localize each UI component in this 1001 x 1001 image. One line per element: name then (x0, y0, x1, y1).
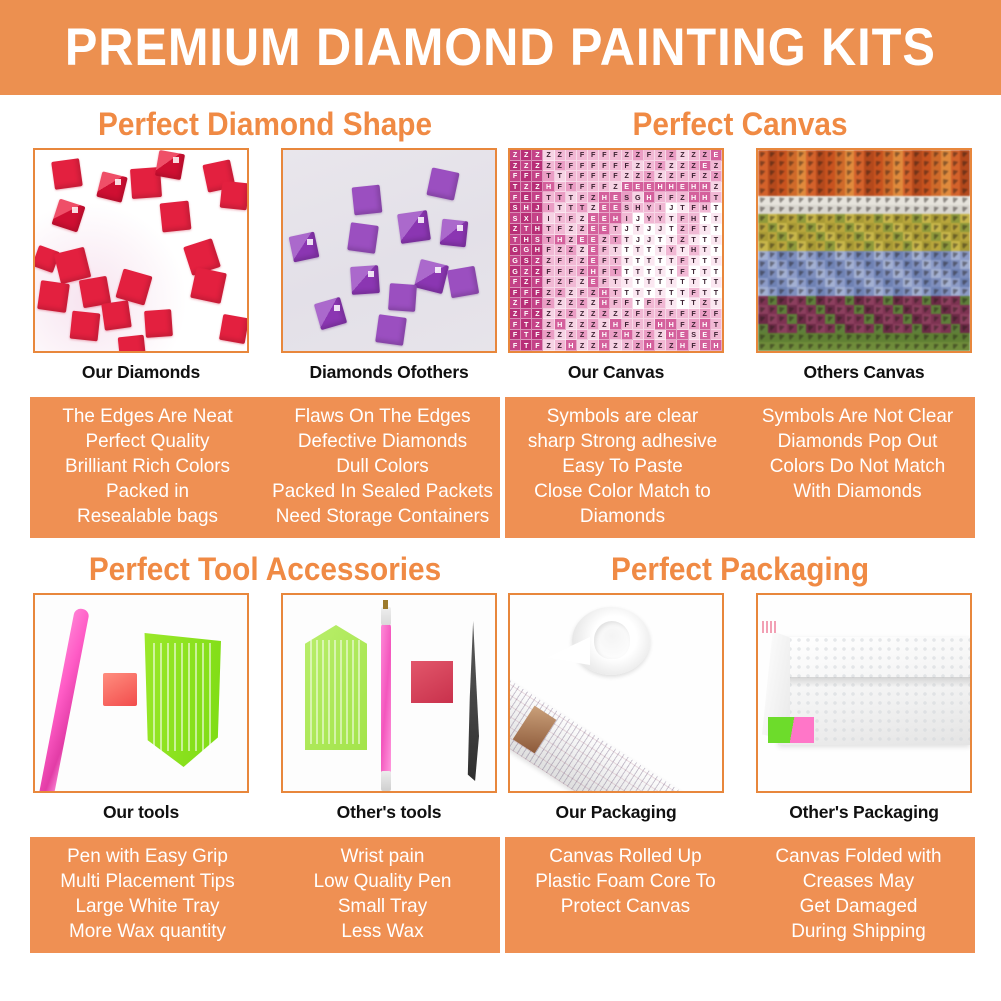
canvas-symbol-cell: Z (555, 330, 566, 341)
mailer-fold-line (778, 677, 970, 687)
canvas-symbol-cell: F (566, 213, 577, 224)
canvas-symbol-cell (806, 287, 816, 296)
canvas-symbol-cell (845, 159, 855, 168)
canvas-symbol-cell (854, 223, 864, 232)
canvas-symbol-cell (787, 159, 797, 168)
diamond-tile (219, 314, 249, 344)
canvas-symbol-cell (768, 278, 778, 287)
canvas-symbol-cell (912, 232, 922, 241)
canvas-symbol-cell (941, 168, 951, 177)
canvas-symbol-cell: T (633, 288, 644, 299)
canvas-symbol-cell: E (711, 150, 722, 161)
wax-square-icon (103, 673, 137, 706)
canvas-symbol-cell: Z (588, 203, 599, 214)
canvas-symbol-cell: F (622, 319, 633, 330)
canvas-symbol-cell: F (521, 288, 532, 299)
canvas-symbol-cell: T (610, 256, 621, 267)
canvas-symbol-cell: Z (543, 340, 554, 351)
canvas-symbol-cell: T (555, 213, 566, 224)
canvas-symbol-cell: T (633, 277, 644, 288)
canvas-symbol-cell (758, 232, 768, 241)
canvas-symbol-cell (854, 305, 864, 314)
canvas-symbol-cell (893, 177, 903, 186)
canvas-symbol-cell (922, 251, 932, 260)
canvas-symbol-cell (835, 333, 845, 342)
canvas-symbol-cell: Z (577, 266, 588, 277)
canvas-symbol-cell: Z (622, 171, 633, 182)
red-diamonds-photo (33, 148, 249, 353)
canvas-symbol-cell (893, 260, 903, 269)
blurry-color-canvas-photo (756, 148, 972, 353)
canvas-symbol-cell: I (543, 213, 554, 224)
canvas-symbol-cell: Y (644, 213, 655, 224)
canvas-symbol-cell: T (577, 203, 588, 214)
canvas-symbol-cell (893, 342, 903, 351)
canvas-symbol-cell (874, 251, 884, 260)
canvas-symbol-cell: T (700, 256, 711, 267)
canvas-symbol-cell: Z (510, 224, 521, 235)
canvas-symbol-cell (864, 324, 874, 333)
canvas-symbol-cell (845, 241, 855, 250)
canvas-symbol-cell (874, 333, 884, 342)
canvas-symbol-cell (816, 314, 826, 323)
canvas-symbol-cell: F (588, 150, 599, 161)
canvas-symbol-cell: T (633, 245, 644, 256)
canvas-symbol-cell (758, 196, 768, 205)
canvas-symbol-cell: Z (655, 330, 666, 341)
canvas-symbol-cell: S (532, 235, 543, 246)
canvas-symbol-cell (874, 305, 884, 314)
canvas-symbol-cell: T (711, 288, 722, 299)
canvas-symbol-cell (768, 205, 778, 214)
canvas-symbol-cell (903, 150, 913, 159)
canvas-symbol-cell (951, 278, 961, 287)
section-title: Perfect Tool Accessories (46, 551, 483, 587)
canvas-symbol-cell (951, 177, 961, 186)
info-column-ours: Canvas Rolled Up Plastic Foam Core To Pr… (509, 844, 739, 944)
canvas-symbol-cell (787, 278, 797, 287)
canvas-symbol-cell (845, 223, 855, 232)
canvas-symbol-cell: F (689, 203, 700, 214)
canvas-symbol-cell (797, 223, 807, 232)
canvas-symbol-cell: Z (655, 309, 666, 320)
canvas-symbol-cell (845, 150, 855, 159)
canvas-symbol-cell (922, 342, 932, 351)
canvas-symbol-cell (787, 342, 797, 351)
canvas-symbol-cell (883, 324, 893, 333)
canvas-symbol-cell: T (677, 203, 688, 214)
diamond-tile (144, 309, 173, 338)
canvas-symbol-cell (893, 214, 903, 223)
canvas-symbol-cell (903, 214, 913, 223)
canvas-symbol-cell (787, 150, 797, 159)
canvas-symbol-cell: Z (566, 288, 577, 299)
canvas-symbol-cell: Z (555, 298, 566, 309)
canvas-symbol-cell: T (644, 277, 655, 288)
canvas-symbol-cell: H (566, 340, 577, 351)
canvas-symbol-cell: H (677, 340, 688, 351)
canvas-symbol-cell: F (532, 192, 543, 203)
canvas-symbol-cell: F (644, 309, 655, 320)
canvas-symbol-cell (777, 205, 787, 214)
canvas-symbol-cell (931, 159, 941, 168)
canvas-symbol-cell (758, 333, 768, 342)
info-line: Resealable bags (34, 504, 262, 529)
section-diamond-shape: Perfect Diamond Shape Our Diamonds Diamo… (30, 100, 500, 535)
info-line: Multi Placement Tips (34, 869, 262, 894)
canvas-symbol-cell: T (644, 266, 655, 277)
canvas-symbol-cell (835, 214, 845, 223)
canvas-symbol-cell (912, 287, 922, 296)
canvas-symbol-cell (777, 296, 787, 305)
canvas-symbol-cell: T (610, 245, 621, 256)
canvas-symbol-cell: Z (532, 256, 543, 267)
canvas-symbol-cell: Z (610, 340, 621, 351)
canvas-symbol-cell: E (588, 256, 599, 267)
canvas-symbol-cell: T (610, 235, 621, 246)
canvas-symbol-cell: E (588, 277, 599, 288)
canvas-symbol-cell: T (700, 235, 711, 246)
canvas-symbol-cell: F (510, 277, 521, 288)
canvas-symbol-cell: E (633, 182, 644, 193)
canvas-symbol-cell: Z (555, 150, 566, 161)
canvas-symbol-cell (874, 241, 884, 250)
info-line: Less Wax (269, 919, 497, 944)
canvas-symbol-cell: T (711, 319, 722, 330)
canvas-symbol-cell: Z (532, 319, 543, 330)
diamond-tile (426, 167, 459, 200)
canvas-symbol-cell (787, 168, 797, 177)
info-box: Canvas Rolled Up Plastic Foam Core To Pr… (505, 837, 975, 953)
canvas-symbol-cell: T (633, 256, 644, 267)
canvas-symbol-cell: Z (633, 340, 644, 351)
canvas-symbol-cell (960, 287, 970, 296)
canvas-symbol-cell: Z (655, 340, 666, 351)
canvas-symbol-cell (825, 333, 835, 342)
canvas-symbol-cell: T (510, 182, 521, 193)
canvas-symbol-cell: F (644, 298, 655, 309)
canvas-symbol-cell: F (677, 319, 688, 330)
canvas-symbol-cell: Z (677, 150, 688, 161)
canvas-symbol-cell (864, 177, 874, 186)
canvas-symbol-cell: T (666, 288, 677, 299)
photo-caption: Our Packaging (505, 802, 727, 823)
canvas-symbol-cell: F (677, 266, 688, 277)
canvas-symbol-cell (845, 187, 855, 196)
canvas-symbol-cell: T (689, 256, 700, 267)
canvas-symbol-cell (893, 324, 903, 333)
canvas-symbol-cell (893, 314, 903, 323)
info-column-others: Canvas Folded with Creases May Get Damag… (745, 844, 971, 944)
canvas-symbol-cell: Z (588, 288, 599, 299)
canvas-symbol-cell (874, 205, 884, 214)
info-column-others: Symbols Are Not Clear Diamonds Pop Out C… (744, 404, 972, 529)
mailer-seal-strip-icon (762, 621, 776, 633)
canvas-symbol-cell (758, 324, 768, 333)
tray-ribs-icon (153, 643, 211, 751)
info-line: Small Tray (269, 894, 497, 919)
canvas-symbol-cell (960, 177, 970, 186)
canvas-symbol-cell (931, 287, 941, 296)
canvas-symbol-cell: S (521, 256, 532, 267)
canvas-symbol-cell: H (521, 235, 532, 246)
canvas-symbol-cell: H (700, 203, 711, 214)
canvas-symbol-cell: F (577, 171, 588, 182)
canvas-symbol-cell (854, 241, 864, 250)
canvas-symbol-cell: J (644, 235, 655, 246)
canvas-symbol-cell: Z (566, 245, 577, 256)
wax-square-icon (411, 661, 453, 703)
canvas-symbol-cell (758, 187, 768, 196)
pen-end-cap-icon (381, 771, 391, 791)
section-packaging: Perfect Packaging Our Packaging (505, 545, 975, 975)
canvas-symbol-cell: Z (633, 330, 644, 341)
canvas-symbol-cell: T (510, 235, 521, 246)
pen-tip-icon (381, 607, 391, 625)
canvas-symbol-cell (941, 214, 951, 223)
canvas-symbol-cell: Z (622, 309, 633, 320)
canvas-symbol-cell (758, 223, 768, 232)
canvas-symbol-cell: Z (666, 340, 677, 351)
canvas-symbol-cell (922, 159, 932, 168)
sparkle-highlight (115, 179, 121, 185)
canvas-symbol-cell (816, 150, 826, 159)
canvas-symbol-cell (951, 296, 961, 305)
canvas-symbol-cell (797, 241, 807, 250)
canvas-symbol-cell: Z (677, 161, 688, 172)
canvas-symbol-cell: Z (555, 309, 566, 320)
canvas-symbol-cell (768, 168, 778, 177)
info-line: With Diamonds (744, 479, 972, 504)
canvas-symbol-cell (854, 296, 864, 305)
canvas-symbol-cell: T (677, 298, 688, 309)
canvas-symbol-cell (931, 342, 941, 351)
sparkle-highlight (334, 305, 340, 311)
canvas-symbol-cell (787, 177, 797, 186)
canvas-symbol-cell (931, 205, 941, 214)
canvas-symbol-cell: T (700, 213, 711, 224)
canvas-symbol-cell (787, 241, 797, 250)
canvas-symbol-cell (941, 287, 951, 296)
canvas-symbol-cell: H (689, 182, 700, 193)
canvas-symbol-cell (922, 205, 932, 214)
sparkle-highlight (173, 157, 179, 163)
canvas-symbol-cell (941, 296, 951, 305)
canvas-symbol-cell: Z (700, 298, 711, 309)
canvas-symbol-cell: Z (566, 330, 577, 341)
canvas-symbol-cell (845, 278, 855, 287)
canvas-symbol-cell: Z (577, 340, 588, 351)
canvas-symbol-cell: T (610, 224, 621, 235)
info-line: Defective Diamonds (269, 429, 497, 454)
info-line: Perfect Quality (34, 429, 262, 454)
canvas-symbol-cell (912, 168, 922, 177)
canvas-symbol-cell (854, 324, 864, 333)
canvas-symbol-cell: E (677, 330, 688, 341)
canvas-symbol-cell: H (532, 224, 543, 235)
canvas-symbol-cell (874, 232, 884, 241)
canvas-symbol-cell: E (700, 330, 711, 341)
canvas-symbol-cell: Z (532, 182, 543, 193)
canvas-symbol-cell: H (711, 340, 722, 351)
canvas-symbol-cell: F (610, 298, 621, 309)
canvas-symbol-cell (758, 314, 768, 323)
canvas-symbol-cell (768, 314, 778, 323)
canvas-symbol-cell (931, 269, 941, 278)
canvas-symbol-cell (864, 187, 874, 196)
canvas-symbol-cell (864, 278, 874, 287)
canvas-symbol-cell (864, 342, 874, 351)
canvas-symbol-cell (951, 214, 961, 223)
canvas-symbol-cell: T (700, 266, 711, 277)
canvas-symbol-cell (941, 333, 951, 342)
canvas-symbol-cell (777, 342, 787, 351)
canvas-symbol-cell (787, 251, 797, 260)
canvas-symbol-cell: T (555, 203, 566, 214)
canvas-symbol-cell (960, 269, 970, 278)
canvas-symbol-cell: T (633, 266, 644, 277)
canvas-symbol-cell (777, 269, 787, 278)
canvas-symbol-cell: F (543, 245, 554, 256)
canvas-symbol-cell (835, 296, 845, 305)
canvas-symbol-cell (883, 232, 893, 241)
canvas-symbol-cell (797, 251, 807, 260)
canvas-symbol-cell (777, 260, 787, 269)
canvas-symbol-cell: Z (521, 161, 532, 172)
canvas-symbol-cell (864, 159, 874, 168)
canvas-symbol-cell: H (599, 192, 610, 203)
canvas-symbol-cell (893, 168, 903, 177)
photo-caption: Diamonds Ofothers (278, 362, 500, 383)
diamond-tile (118, 335, 147, 353)
canvas-symbol-cell (787, 232, 797, 241)
info-line: Packed In Sealed Packets (269, 479, 497, 504)
canvas-symbol-cell (903, 223, 913, 232)
canvas-symbol-cell: F (577, 150, 588, 161)
canvas-symbol-cell: E (588, 245, 599, 256)
canvas-symbol-cell (835, 177, 845, 186)
canvas-symbol-cell (758, 214, 768, 223)
canvas-symbol-cell: Z (689, 161, 700, 172)
canvas-symbol-cell: F (521, 171, 532, 182)
canvas-symbol-cell: Z (655, 150, 666, 161)
canvas-symbol-cell (883, 314, 893, 323)
canvas-symbol-cell: Z (577, 213, 588, 224)
canvas-symbol-cell (797, 305, 807, 314)
canvas-symbol-cell (777, 232, 787, 241)
canvas-symbol-cell: E (577, 235, 588, 246)
canvas-symbol-cell (825, 168, 835, 177)
canvas-symbol-cell (787, 269, 797, 278)
canvas-symbol-cell (768, 296, 778, 305)
canvas-symbol-cell: S (622, 203, 633, 214)
canvas-symbol-cell (768, 305, 778, 314)
info-line: Easy To Paste (509, 454, 737, 479)
canvas-symbol-cell: T (711, 256, 722, 267)
canvas-symbol-cell (825, 223, 835, 232)
canvas-symbol-cell: F (599, 277, 610, 288)
canvas-symbol-cell (768, 342, 778, 351)
canvas-symbol-cell (806, 296, 816, 305)
canvas-symbol-cell: H (700, 192, 711, 203)
info-line: sharp Strong adhesive (509, 429, 737, 454)
info-column-others: Wrist pain Low Quality Pen Small Tray Le… (269, 844, 497, 944)
canvas-symbol-cell (883, 168, 893, 177)
canvas-symbol-cell (883, 333, 893, 342)
canvas-symbol-cell: T (521, 330, 532, 341)
canvas-symbol-cell: Z (622, 340, 633, 351)
canvas-symbol-cell: T (666, 235, 677, 246)
canvas-symbol-cell (951, 305, 961, 314)
canvas-symbol-cell (768, 260, 778, 269)
canvas-symbol-cell: Z (622, 150, 633, 161)
canvas-symbol-cell: Z (566, 235, 577, 246)
canvas-symbol-cell (922, 278, 932, 287)
canvas-symbol-cell (903, 177, 913, 186)
foam-core-inner-icon (594, 621, 630, 659)
canvas-symbol-cell: F (510, 171, 521, 182)
canvas-symbol-cell (825, 260, 835, 269)
canvas-symbol-cell: T (543, 224, 554, 235)
canvas-symbol-cell (806, 159, 816, 168)
canvas-symbol-cell: Z (521, 182, 532, 193)
canvas-symbol-cell: F (666, 309, 677, 320)
canvas-symbol-cell: F (510, 319, 521, 330)
canvas-symbol-cell (951, 159, 961, 168)
canvas-symbol-cell: F (599, 266, 610, 277)
canvas-symbol-cell: E (588, 235, 599, 246)
canvas-symbol-cell (922, 287, 932, 296)
canvas-symbol-cell (835, 342, 845, 351)
info-column-ours: Pen with Easy Grip Multi Placement Tips … (34, 844, 262, 944)
canvas-symbol-cell (835, 251, 845, 260)
canvas-symbol-cell: E (644, 182, 655, 193)
canvas-symbol-cell (768, 196, 778, 205)
info-line: Get Damaged (745, 894, 971, 919)
canvas-symbol-cell: T (711, 277, 722, 288)
comparison-cell-others: Other's tools (278, 593, 500, 823)
sparkle-highlight (368, 271, 374, 277)
canvas-symbol-cell (825, 342, 835, 351)
sparkle-highlight (72, 207, 78, 213)
canvas-symbol-cell: F (677, 309, 688, 320)
canvas-symbol-cell (797, 150, 807, 159)
canvas-symbol-cell (816, 269, 826, 278)
canvas-symbol-cell (883, 159, 893, 168)
canvas-symbol-cell (816, 196, 826, 205)
canvas-symbol-cell (922, 296, 932, 305)
canvas-symbol-cell: S (510, 213, 521, 224)
canvas-symbol-cell (941, 187, 951, 196)
canvas-symbol-cell (777, 305, 787, 314)
canvas-symbol-cell: Z (510, 150, 521, 161)
canvas-symbol-cell (931, 314, 941, 323)
canvas-symbol-cell (874, 342, 884, 351)
canvas-symbol-cell (941, 269, 951, 278)
canvas-symbol-cell (787, 205, 797, 214)
canvas-symbol-cell: T (610, 266, 621, 277)
canvas-symbol-cell: Z (588, 319, 599, 330)
canvas-symbol-cell: F (532, 171, 543, 182)
canvas-symbol-cell (768, 177, 778, 186)
canvas-symbol-cell: H (633, 203, 644, 214)
canvas-symbol-cell (787, 214, 797, 223)
canvas-symbol-cell (806, 232, 816, 241)
canvas-symbol-cell (941, 251, 951, 260)
canvas-symbol-cell (960, 296, 970, 305)
photo-caption: Other's Packaging (753, 802, 975, 823)
diamond-tile (347, 222, 379, 254)
